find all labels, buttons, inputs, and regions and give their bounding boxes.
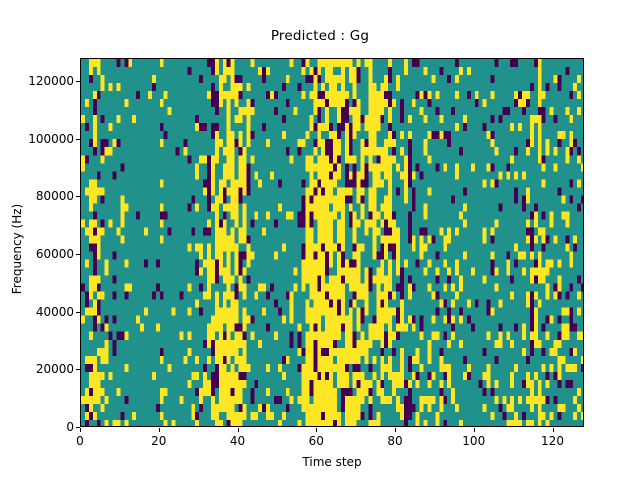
x-tick-mark [553,428,554,432]
x-tick-mark [80,428,81,432]
x-tick-mark [238,428,239,432]
y-tick-label: 120000 [28,74,74,88]
x-axis-tick-marks [0,428,640,433]
x-tick-mark [474,428,475,432]
y-tick-mark [76,139,80,140]
x-tick-mark [395,428,396,432]
y-tick-label: 80000 [36,189,74,203]
y-tick-label: 20000 [36,362,74,376]
x-tick-mark [316,428,317,432]
x-tick-label: 80 [387,434,402,448]
y-tick-label: 40000 [36,305,74,319]
x-tick-label: 0 [76,434,84,448]
x-tick-label: 40 [230,434,245,448]
y-tick-label: 100000 [28,132,74,146]
heatmap-image [81,59,584,427]
y-tick-mark [76,254,80,255]
y-axis-tick-labels: 020000400006000080000100000120000 [0,0,74,480]
x-tick-label: 100 [462,434,485,448]
heatmap-plot-area [80,58,584,427]
x-tick-label: 60 [309,434,324,448]
x-tick-label: 120 [541,434,564,448]
x-tick-label: 20 [151,434,166,448]
figure-canvas: Predicted : Gg Frequency (Hz) 0200004000… [0,0,640,480]
y-tick-mark [76,196,80,197]
x-axis-tick-labels: 020406080100120 [0,434,640,452]
chart-title: Predicted : Gg [0,28,640,44]
x-tick-mark [159,428,160,432]
y-tick-mark [76,312,80,313]
y-tick-label: 60000 [36,247,74,261]
y-tick-mark [76,369,80,370]
y-tick-mark [76,81,80,82]
x-axis-label: Time step [80,455,584,469]
